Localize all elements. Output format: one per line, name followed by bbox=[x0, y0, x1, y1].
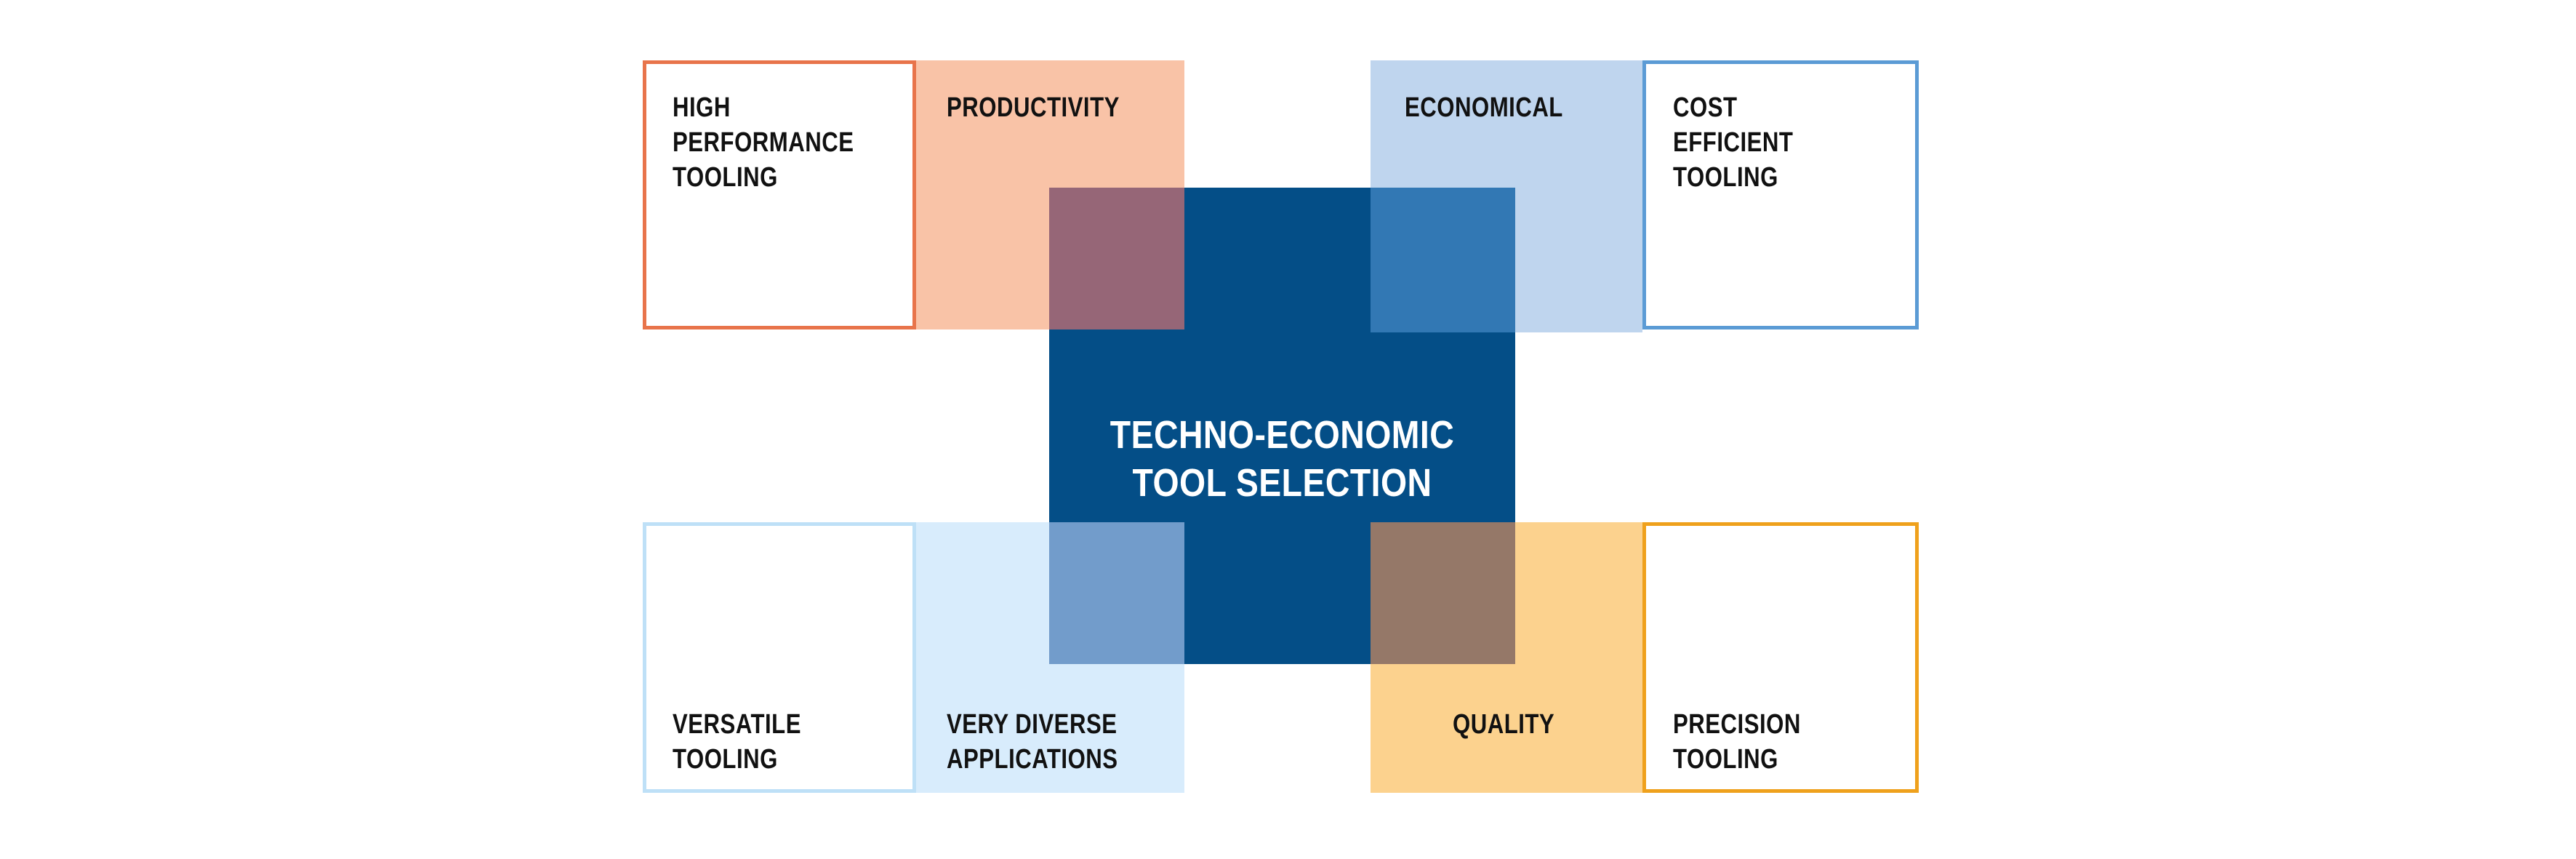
label-high-performance-tooling: HIGH PERFORMANCE TOOLING bbox=[673, 91, 947, 196]
label-quality: QUALITY bbox=[1453, 708, 1703, 743]
label-very-diverse-applications: VERY DIVERSE APPLICATIONS bbox=[947, 708, 1233, 778]
label-economical: ECONOMICAL bbox=[1405, 91, 1655, 126]
center-title: TECHNO-ECONOMIC TOOL SELECTION bbox=[1049, 364, 1515, 556]
overlap-productivity-center bbox=[1049, 188, 1184, 329]
label-productivity: PRODUCTIVITY bbox=[947, 91, 1197, 126]
label-cost-efficient-tooling: COST EFFICIENT TOOLING bbox=[1673, 91, 1935, 196]
label-precision-tooling: PRECISION TOOLING bbox=[1673, 708, 1935, 778]
center-title-text: TECHNO-ECONOMIC TOOL SELECTION bbox=[1082, 412, 1482, 508]
overlap-economical-center bbox=[1371, 188, 1515, 332]
diagram-canvas: HIGH PERFORMANCE TOOLING PRODUCTIVITY EC… bbox=[0, 0, 2576, 859]
label-versatile-tooling: VERSATILE TOOLING bbox=[673, 708, 947, 778]
